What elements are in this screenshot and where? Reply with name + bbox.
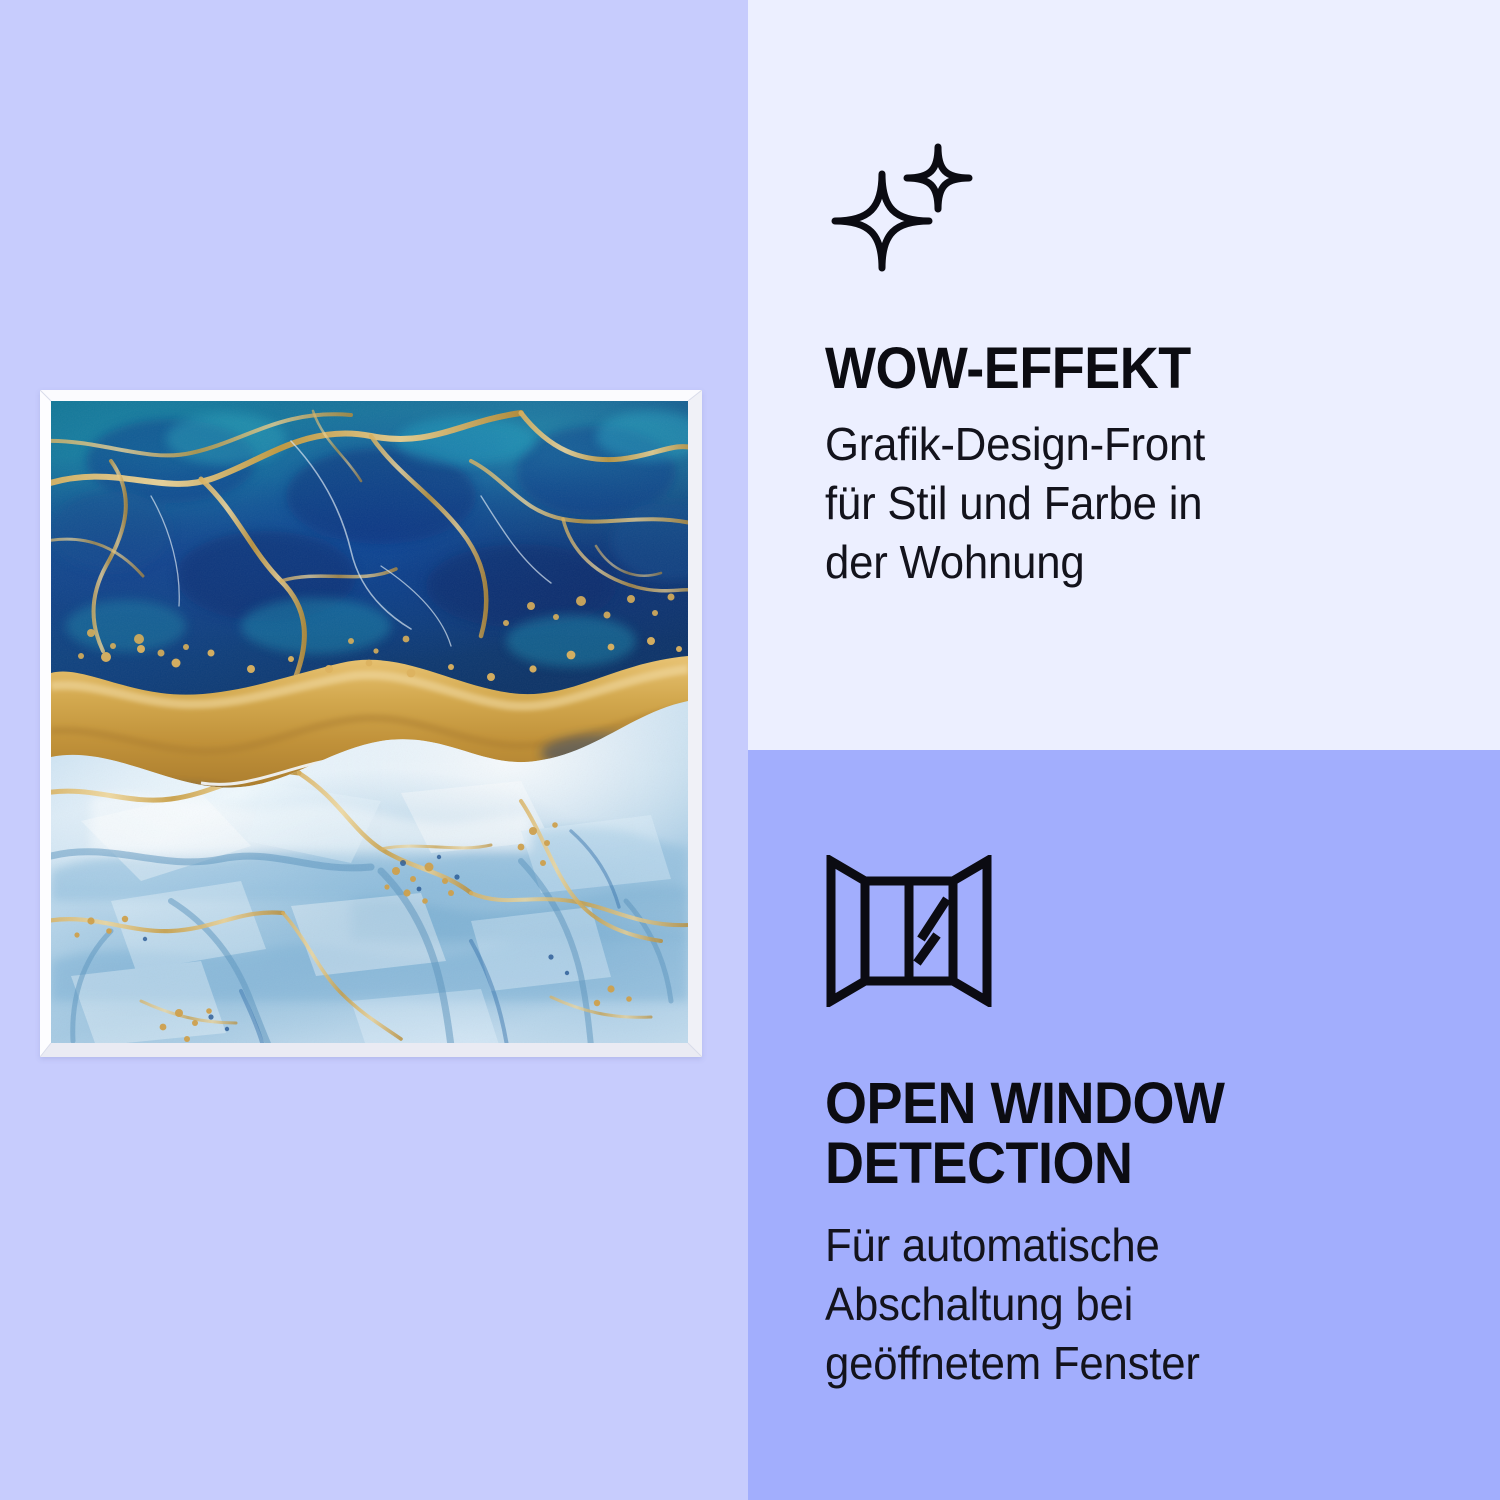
feature-wow-effekt: WOW-EFFEKT Grafik-Design-Front für Stil … [748, 0, 1500, 750]
feature-title: WOW-EFFEKT [825, 339, 1397, 399]
feature-description: Grafik-Design-Front für Stil und Farbe i… [825, 415, 1409, 592]
open-window-icon [825, 855, 1440, 1012]
feature-description: Für automatische Abschaltung bei geöffne… [825, 1216, 1409, 1393]
framed-artwork [40, 390, 702, 1057]
feature-open-window-detection: OPEN WINDOW DETECTION Für automatische A… [748, 750, 1500, 1500]
feature-title: OPEN WINDOW DETECTION [825, 1074, 1397, 1194]
sparkle-icon [825, 130, 1440, 295]
artwork-image [51, 401, 688, 1043]
product-feature-graphic: WOW-EFFEKT Grafik-Design-Front für Stil … [0, 0, 1500, 1500]
